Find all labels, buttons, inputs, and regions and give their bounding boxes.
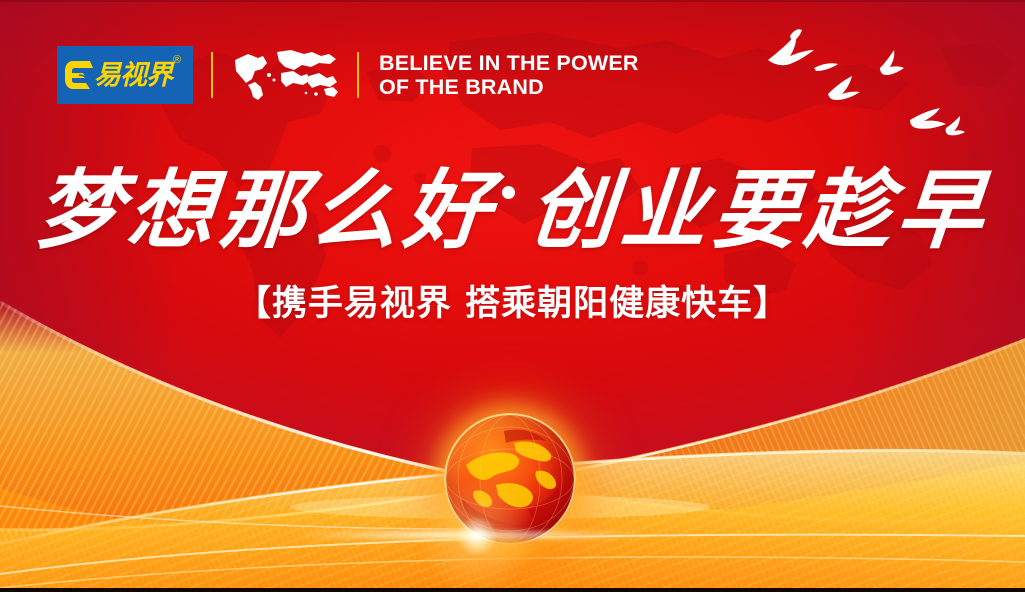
headline-left: 梦想那么好 [32, 168, 500, 254]
promotional-banner: 易视界 ® BELIEVE IN TH [0, 0, 1025, 592]
logo-wordmark: 易视界 [94, 62, 172, 89]
brand-slogan-en: BELIEVE IN THE POWER OF THE BRAND [379, 51, 639, 99]
headline-separator-dot [502, 186, 515, 199]
divider-left [211, 52, 213, 98]
headline: 梦想那么好 创业要趁早 [0, 168, 1025, 254]
lens-flare-streak [294, 531, 654, 539]
globe-reflection [450, 537, 570, 587]
bottom-edge-line [0, 588, 1025, 592]
globe-icon [444, 413, 584, 588]
e-swoosh-icon [63, 58, 93, 92]
top-edge-line [0, 0, 1025, 2]
divider-right [357, 52, 359, 98]
flying-birds-icon [740, 28, 1015, 158]
world-map-icon [231, 49, 339, 101]
globe-sphere [444, 413, 576, 545]
subtitle: 【携手易视界 搭乘朝阳健康快车】 [0, 283, 1025, 325]
brand-bar: 易视界 ® BELIEVE IN TH [57, 44, 639, 106]
company-logo[interactable]: 易视界 ® [57, 46, 193, 104]
registered-trademark-icon: ® [173, 55, 181, 66]
headline-right: 创业要趁早 [525, 168, 993, 254]
